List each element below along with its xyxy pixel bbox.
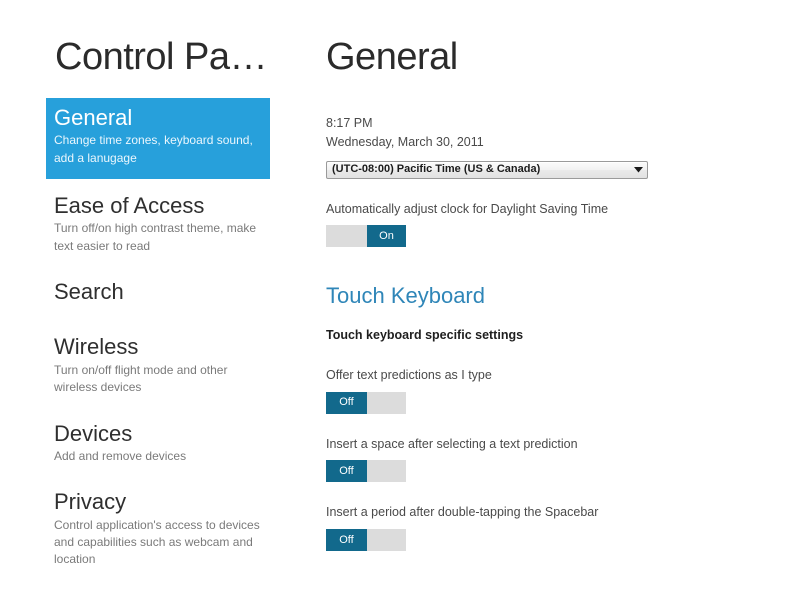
right-pane: General 8:17 PM Wednesday, March 30, 201…	[318, 0, 800, 600]
toggle-state-label: Off	[326, 529, 367, 551]
current-date: Wednesday, March 30, 2011	[326, 133, 786, 152]
toggle-track	[367, 529, 406, 551]
insert-space-toggle[interactable]: Off	[326, 460, 406, 482]
insert-period-setting: Insert a period after double-tapping the…	[326, 503, 786, 551]
daylight-saving-toggle[interactable]: On	[326, 225, 406, 247]
sidebar-item-description: Turn on/off flight mode and other wirele…	[54, 362, 269, 397]
toggle-track	[367, 392, 406, 414]
sidebar-item-ease-of-access[interactable]: Ease of Access Turn off/on high contrast…	[0, 187, 318, 265]
insert-space-label: Insert a space after selecting a text pr…	[326, 435, 786, 454]
timezone-selected-value: (UTC-08:00) Pacific Time (US & Canada)	[332, 164, 631, 175]
sidebar-item-general[interactable]: General Change time zones, keyboard soun…	[46, 98, 270, 179]
left-pane: Control Pa… General Change time zones, k…	[0, 0, 318, 600]
insert-space-setting: Insert a space after selecting a text pr…	[326, 435, 786, 483]
sidebar-item-description: Control application's access to devices …	[54, 517, 269, 569]
sidebar-item-label: Wireless	[54, 334, 270, 359]
chevron-down-icon	[631, 167, 645, 173]
sidebar-item-search[interactable]: Search	[0, 273, 318, 314]
sidebar-item-devices[interactable]: Devices Add and remove devices	[0, 415, 318, 476]
page-title: General	[326, 38, 458, 76]
sidebar-item-description: Turn off/on high contrast theme, make te…	[54, 220, 269, 255]
sidebar-item-description: Change time zones, keyboard sound, add a…	[54, 132, 264, 167]
sidebar-item-description: Add and remove devices	[54, 448, 269, 465]
insert-period-label: Insert a period after double-tapping the…	[326, 503, 786, 522]
sidebar-item-label: General	[54, 105, 264, 130]
sidebar-item-wireless[interactable]: Wireless Turn on/off flight mode and oth…	[0, 328, 318, 406]
sidebar-item-privacy[interactable]: Privacy Control application's access to …	[0, 483, 318, 578]
toggle-track	[326, 225, 367, 247]
touch-keyboard-subheading: Touch keyboard specific settings	[326, 327, 786, 345]
sidebar-nav: General Change time zones, keyboard soun…	[0, 98, 318, 587]
text-predictions-setting: Offer text predictions as I type Off	[326, 366, 786, 414]
sidebar-item-label: Search	[54, 279, 270, 304]
text-predictions-toggle[interactable]: Off	[326, 392, 406, 414]
current-time: 8:17 PM	[326, 114, 786, 133]
daylight-saving-setting: Automatically adjust clock for Daylight …	[326, 200, 786, 248]
timezone-select[interactable]: (UTC-08:00) Pacific Time (US & Canada)	[326, 161, 648, 179]
sidebar-item-label: Privacy	[54, 489, 270, 514]
toggle-state-label: Off	[326, 392, 367, 414]
settings-content: 8:17 PM Wednesday, March 30, 2011 (UTC-0…	[326, 114, 786, 551]
toggle-track	[367, 460, 406, 482]
app-title: Control Pa…	[55, 38, 267, 76]
text-predictions-label: Offer text predictions as I type	[326, 366, 786, 385]
touch-keyboard-heading: Touch Keyboard	[326, 284, 786, 308]
insert-period-toggle[interactable]: Off	[326, 529, 406, 551]
toggle-state-label: On	[367, 225, 406, 247]
sidebar-item-label: Ease of Access	[54, 193, 270, 218]
toggle-state-label: Off	[326, 460, 367, 482]
sidebar-item-label: Devices	[54, 421, 270, 446]
daylight-saving-label: Automatically adjust clock for Daylight …	[326, 200, 786, 219]
